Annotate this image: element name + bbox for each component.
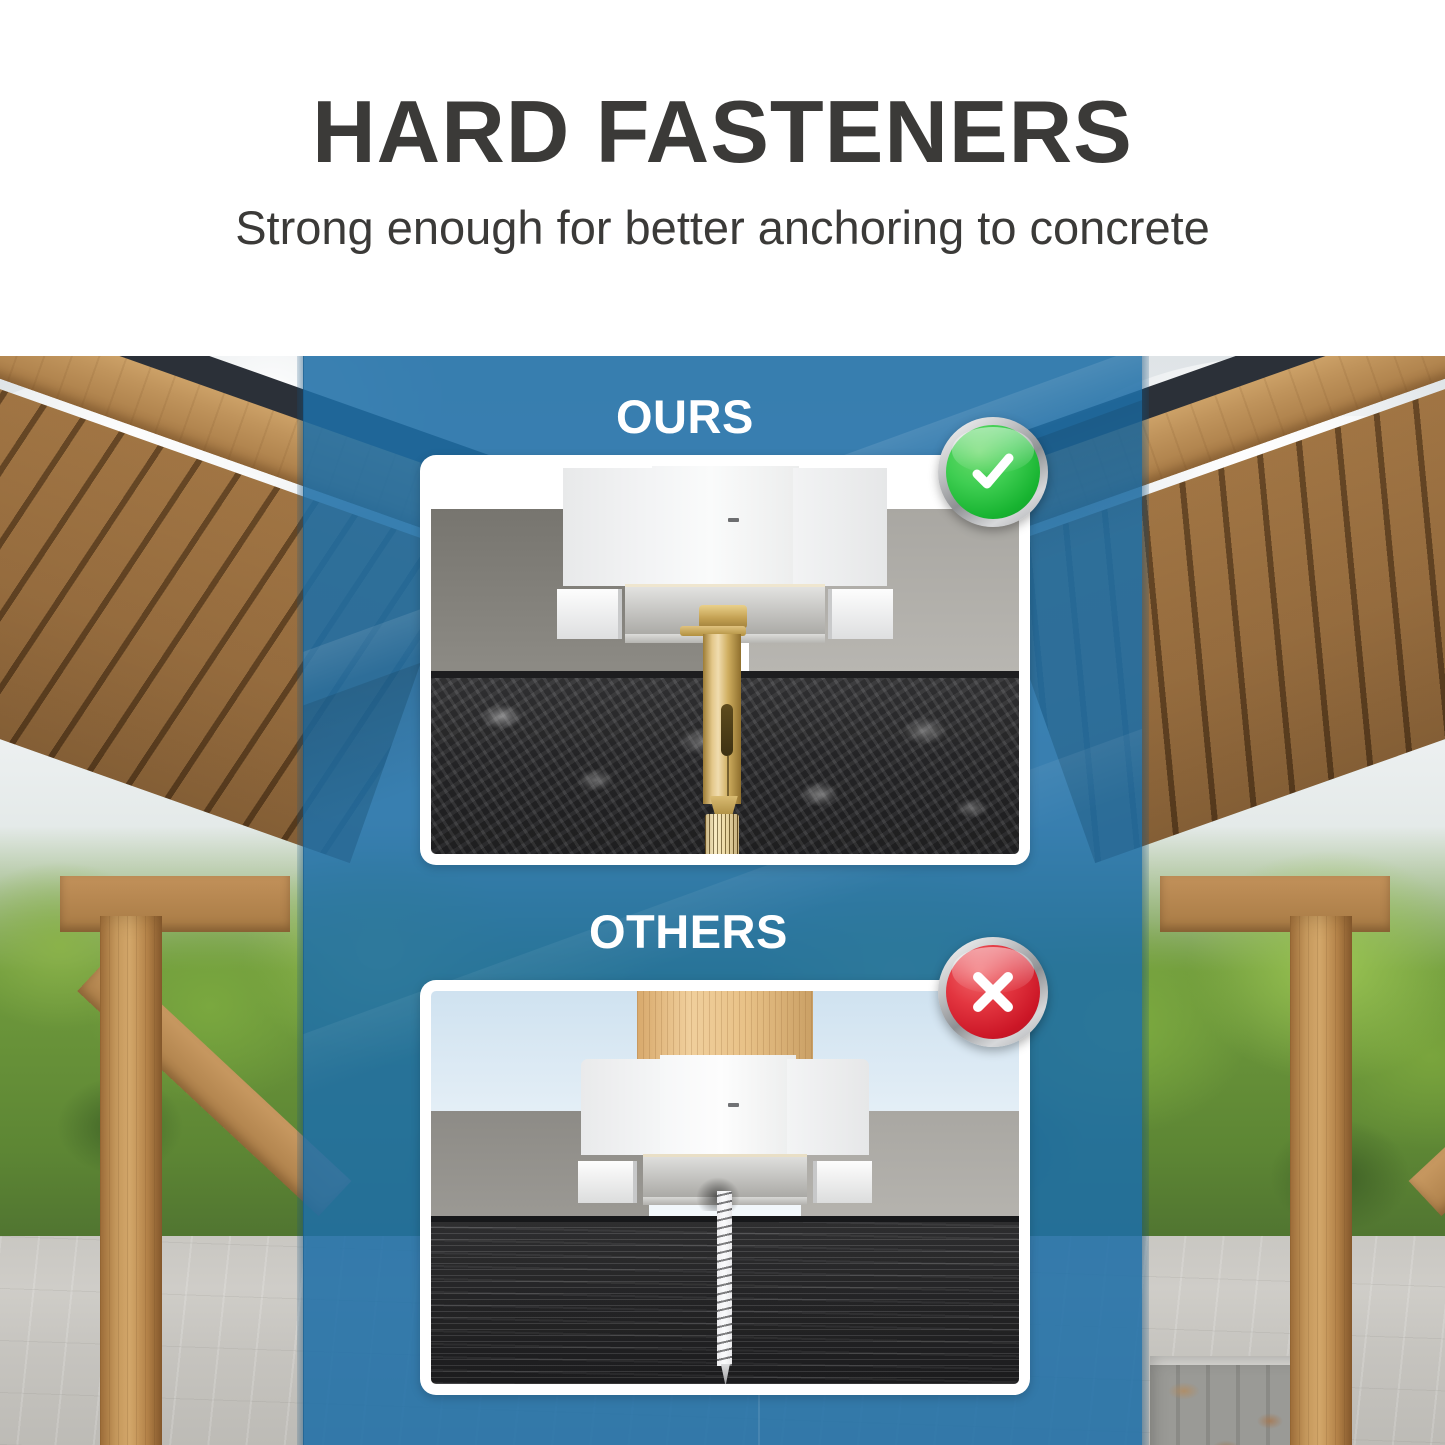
page-title: HARD FASTENERS [312, 88, 1133, 176]
product-comparison-image: HARD FASTENERS Strong enough for better … [0, 0, 1445, 1445]
photo-card-ours [420, 455, 1030, 865]
wood-post [1290, 916, 1352, 1445]
post-center-face [652, 466, 799, 586]
wood-post [100, 916, 162, 1445]
photo-card-others [420, 980, 1030, 1395]
close-icon [964, 963, 1022, 1021]
bracket-slot [728, 518, 739, 522]
header-band: HARD FASTENERS Strong enough for better … [0, 0, 1445, 356]
header-beam [60, 876, 290, 932]
section-label-ours: OURS [616, 393, 754, 440]
concrete-anchor-photo [431, 466, 1019, 854]
x-badge [938, 937, 1048, 1047]
bracket-tab-left [578, 1161, 637, 1203]
bracket-right-face [787, 1059, 869, 1155]
check-badge [938, 417, 1048, 527]
bracket-tab-left [557, 589, 622, 639]
check-icon [962, 441, 1024, 503]
post-left-face [563, 468, 657, 586]
bracket-tab-right [828, 589, 893, 639]
page-subtitle: Strong enough for better anchoring to co… [235, 202, 1210, 254]
panel-left-edge [297, 356, 304, 1445]
header-beam [1160, 876, 1390, 932]
wood-screw-shaft [717, 1191, 732, 1366]
section-label-others: OTHERS [589, 908, 788, 955]
wood-screw-photo [431, 991, 1019, 1384]
anchor-expansion-slot [721, 704, 733, 756]
post-right-face [793, 468, 887, 586]
panel-right-edge [1142, 356, 1149, 1445]
bracket-slot [728, 1103, 739, 1107]
bracket-left-face [581, 1059, 663, 1155]
anchor-expansion-sleeve [705, 814, 739, 854]
bracket-tab-right [813, 1161, 872, 1203]
